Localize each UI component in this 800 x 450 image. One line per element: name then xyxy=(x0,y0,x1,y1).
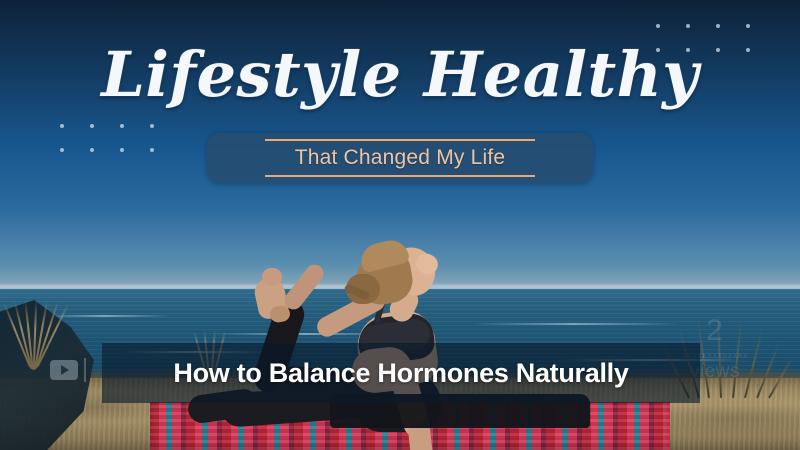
badge-text: That Changed My Life xyxy=(295,141,506,175)
script-title: Lifestyle Healthy xyxy=(0,44,800,106)
headline-bar: How to Balance Hormones Naturally xyxy=(102,343,700,403)
play-icon[interactable] xyxy=(50,360,78,380)
video-thumbnail: 2 xxxxxxxxxxxxx views Lifestyle Healthy … xyxy=(0,0,800,450)
dot-grid-left xyxy=(60,124,154,152)
watermark-count: 2 xyxy=(660,316,770,346)
headline-text: How to Balance Hormones Naturally xyxy=(102,358,700,389)
play-divider xyxy=(84,358,86,382)
badge-rule-bottom xyxy=(265,175,535,177)
subtitle-badge: That Changed My Life xyxy=(207,133,593,183)
